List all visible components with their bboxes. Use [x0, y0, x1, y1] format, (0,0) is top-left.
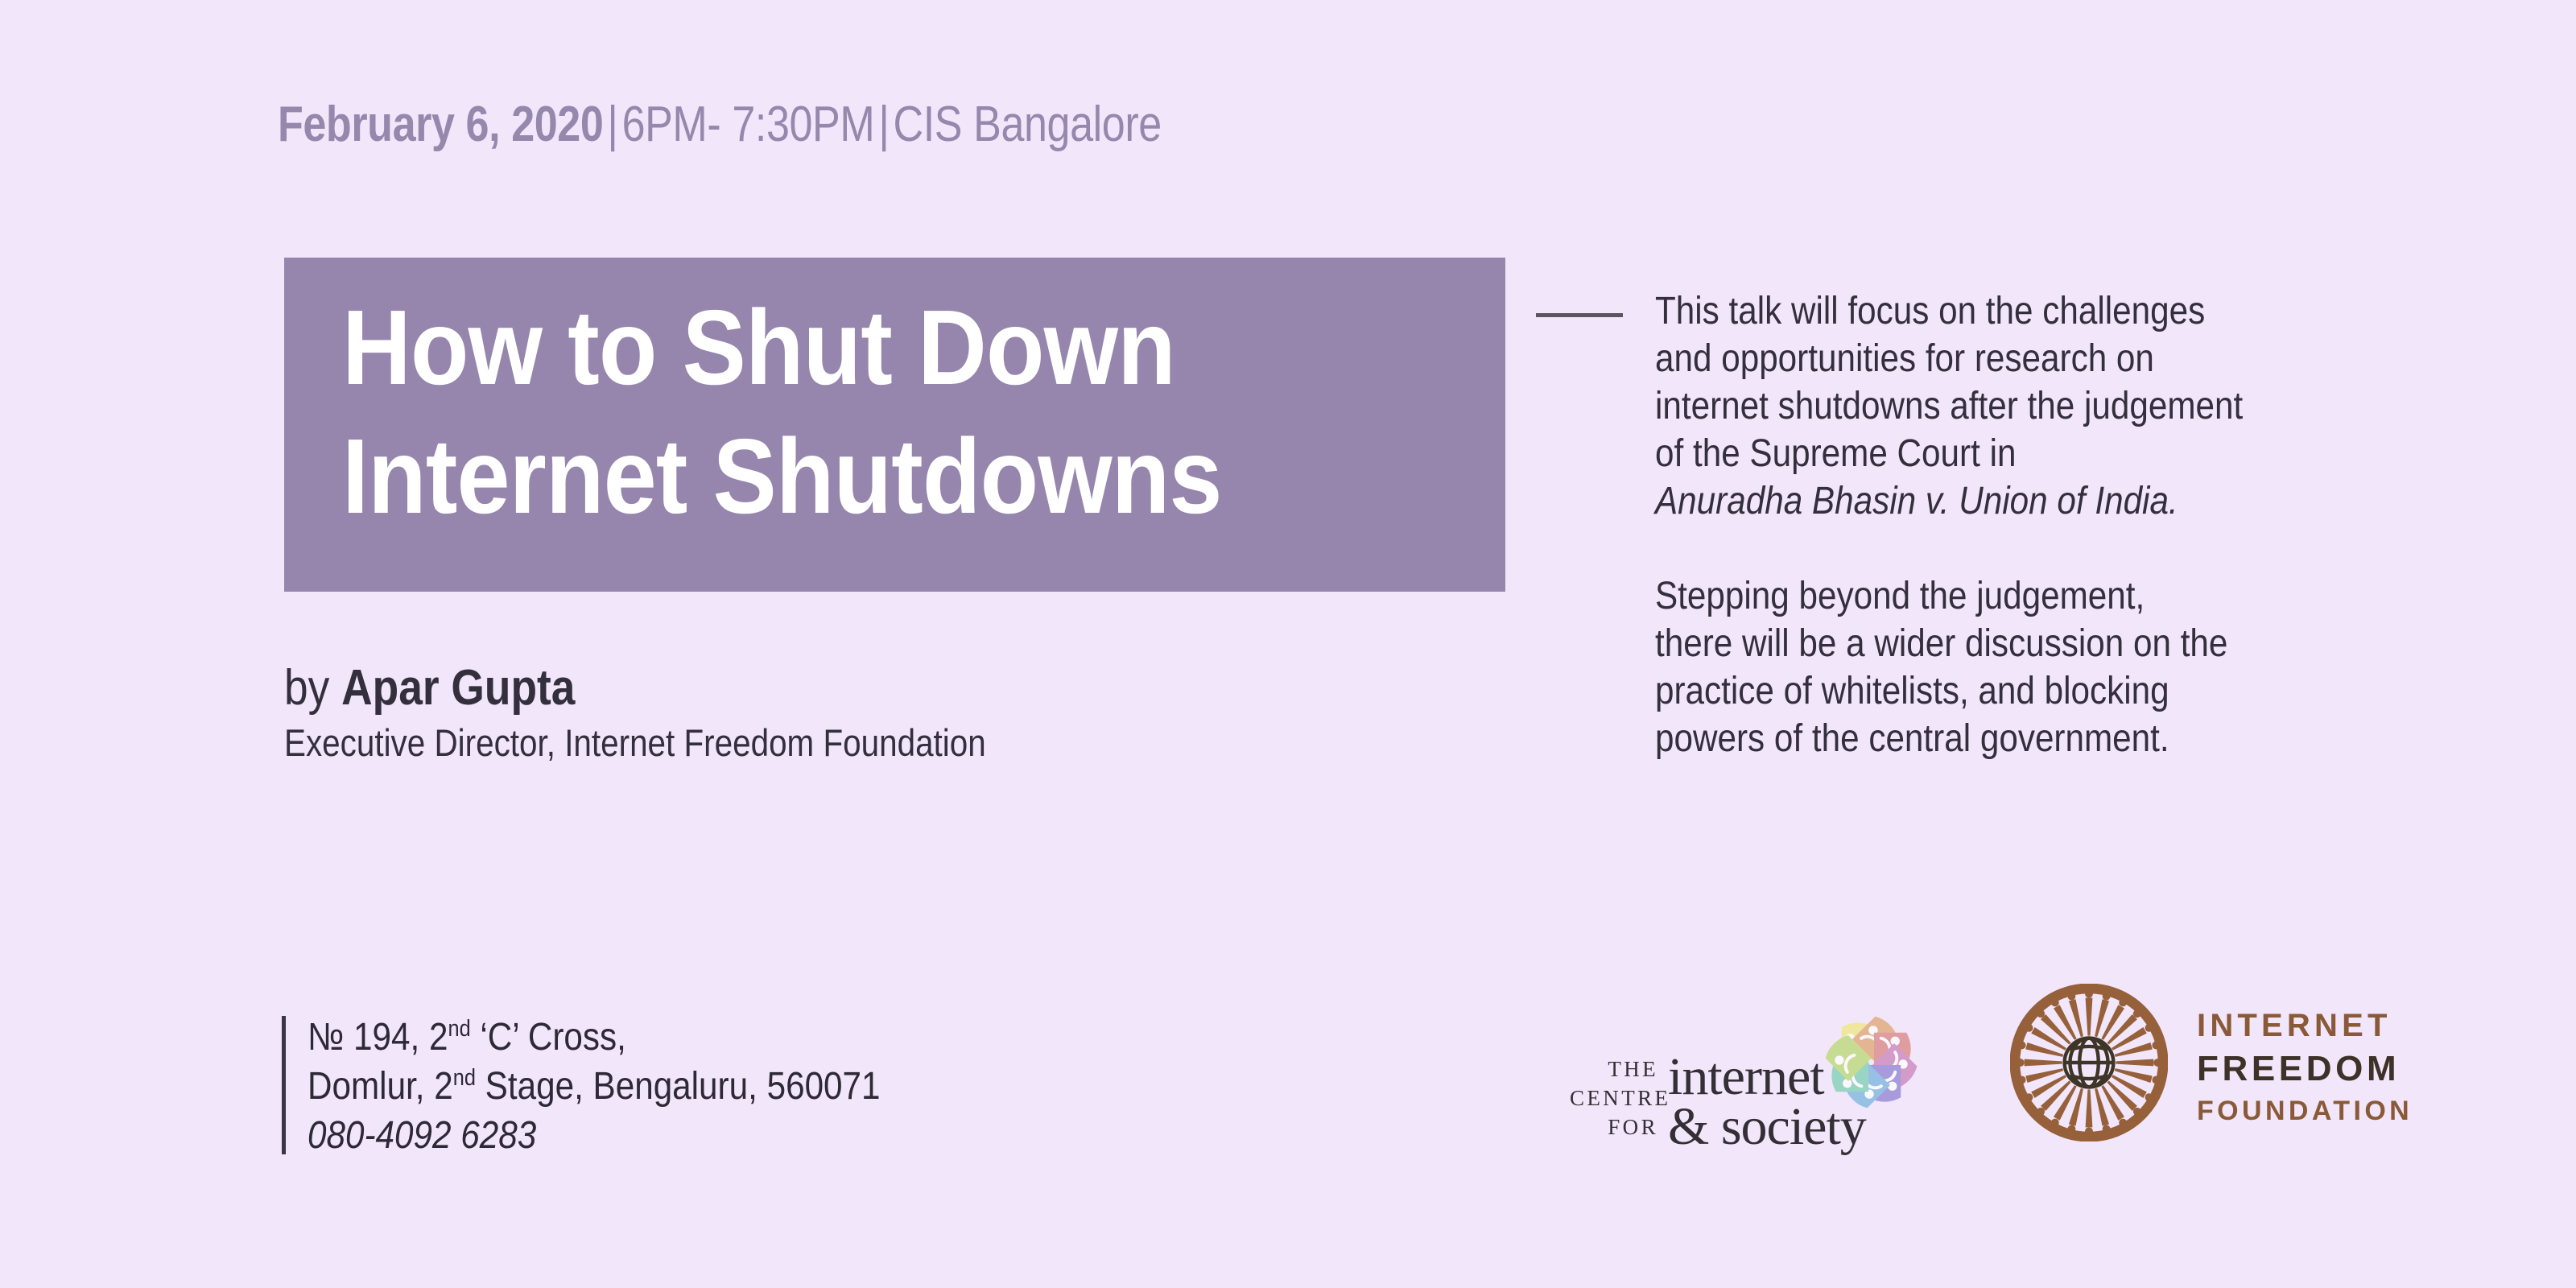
cis-word-centre: CENTRE [1570, 1084, 1658, 1113]
iff-logo: INTERNET FREEDOM FOUNDATION [2010, 984, 2413, 1145]
speaker-by-label: by [284, 660, 329, 716]
desc-p2-line-2: there will be a wider discussion on the [1655, 620, 2363, 667]
phone-number: 080-4092 6283 [308, 1111, 881, 1160]
desc-p2-line-3: practice of whitelists, and blocking [1655, 667, 2363, 715]
address-rule [282, 1016, 286, 1154]
event-venue: CIS Bangalore [894, 97, 1162, 152]
cis-logo: THE CENTRE FOR internet & society [1570, 992, 1940, 1149]
cis-word-for: FOR [1570, 1113, 1658, 1141]
cis-pinwheel-icon [1797, 992, 1946, 1133]
address-line-1-prefix: № 194, 2 [308, 1016, 448, 1059]
desc-p1-line-4: of the Supreme Court in [1655, 430, 2363, 477]
address-line-2-prefix: Domlur, 2 [308, 1065, 453, 1108]
address-line-1-ordinal: nd [448, 1016, 470, 1042]
description-block: This talk will focus on the challenges a… [1655, 287, 2363, 762]
iff-wordmark: INTERNET FREEDOM FOUNDATION [2197, 1005, 2413, 1130]
address-line-1: № 194, 2nd ‘C’ Cross, [308, 1013, 881, 1062]
meta-separator-1: | [603, 97, 621, 152]
desc-p1-line-3: internet shutdowns after the judgement [1655, 382, 2363, 430]
ashoka-chakra-globe-icon [2010, 984, 2168, 1141]
speaker-block: by Apar Gupta Executive Director, Intern… [284, 658, 986, 768]
title-banner: How to Shut Down Internet Shutdowns [284, 258, 1505, 592]
address-block: № 194, 2nd ‘C’ Cross, Domlur, 2nd Stage,… [308, 1013, 881, 1160]
address-line-2-suffix: Stage, Bengaluru, 560071 [476, 1065, 881, 1108]
event-meta-line: February 6, 2020|6PM- 7:30PM|CIS Bangalo… [278, 95, 1162, 155]
title-line-1: How to Shut Down [342, 283, 1371, 412]
event-date: February 6, 2020 [278, 97, 603, 152]
speaker-name-line: by Apar Gupta [284, 658, 986, 718]
address-line-1-suffix: ‘C’ Cross, [471, 1016, 626, 1059]
cis-logo-smallcaps: THE CENTRE FOR [1570, 1055, 1658, 1141]
cis-word-the: THE [1570, 1055, 1658, 1084]
title-line-2: Internet Shutdowns [342, 412, 1371, 541]
event-poster: February 6, 2020|6PM- 7:30PM|CIS Bangalo… [0, 0, 2576, 1288]
desc-p2-line-1: Stepping beyond the judgement, [1655, 572, 2363, 620]
address-line-2: Domlur, 2nd Stage, Bengaluru, 560071 [308, 1062, 881, 1111]
event-time: 6PM- 7:30PM [622, 97, 875, 152]
desc-p1-line-2: and opportunities for research on [1655, 335, 2363, 382]
speaker-role: Executive Director, Internet Freedom Fou… [284, 718, 986, 768]
desc-case-citation: Anuradha Bhasin v. Union of India. [1655, 477, 2363, 525]
description-paragraph-1: This talk will focus on the challenges a… [1655, 287, 2363, 525]
page-title: How to Shut Down Internet Shutdowns [342, 283, 1371, 541]
description-rule [1536, 313, 1623, 317]
description-spacer [1655, 525, 2363, 572]
desc-p2-line-4: powers of the central government. [1655, 715, 2363, 762]
desc-p1-line-1: This talk will focus on the challenges [1655, 287, 2363, 335]
description-paragraph-2: Stepping beyond the judgement, there wil… [1655, 572, 2363, 762]
meta-separator-2: | [874, 97, 893, 152]
iff-line-foundation: FOUNDATION [2197, 1092, 2413, 1130]
iff-line-internet: INTERNET [2197, 1005, 2413, 1046]
address-line-2-ordinal: nd [453, 1065, 476, 1091]
iff-line-freedom: FREEDOM [2197, 1046, 2413, 1092]
speaker-name: Apar Gupta [341, 660, 575, 716]
